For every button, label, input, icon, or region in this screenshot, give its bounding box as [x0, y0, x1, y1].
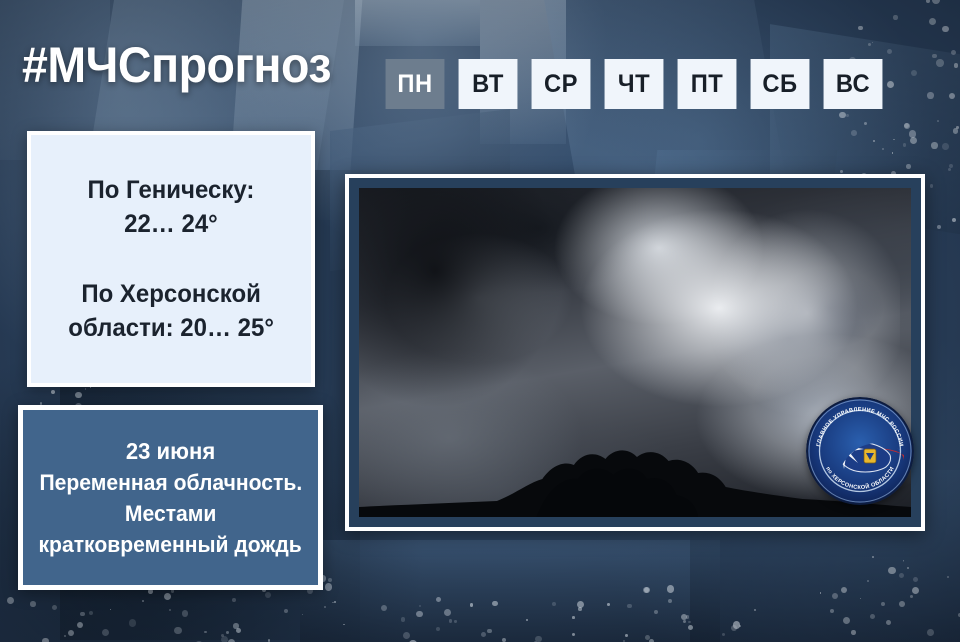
kherson-label-line2: области: 20… 25°	[68, 311, 274, 345]
day-tab-пт[interactable]: ПТ	[678, 59, 737, 109]
kherson-label-line1: По Херсонской	[68, 277, 274, 311]
forecast-line-2: Местами	[125, 498, 217, 529]
page-title: #МЧСпрогноз	[22, 36, 331, 94]
cloud-dark-region	[359, 188, 613, 425]
day-tab-ср[interactable]: СР	[532, 59, 591, 109]
day-tab-чт[interactable]: ЧТ	[605, 59, 664, 109]
day-tabs[interactable]: ПНВТСРЧТПТСБВС	[384, 59, 884, 109]
day-tab-вт[interactable]: ВТ	[459, 59, 518, 109]
temperature-panel: По Геническу: 22… 24° По Херсонской обла…	[27, 131, 315, 387]
forecast-line-3: кратковременный дождь	[39, 529, 302, 560]
forecast-line-1: Переменная облачность.	[39, 467, 302, 498]
temperature-genichesk: По Геническу: 22… 24°	[88, 173, 255, 241]
weather-forecast-graphic: #МЧСпрогноз ПНВТСРЧТПТСБВС По Геническу:…	[0, 0, 960, 642]
genichesk-value: 22… 24°	[88, 207, 255, 241]
forecast-date: 23 июня	[126, 436, 215, 467]
day-tab-пн[interactable]: ПН	[386, 59, 445, 109]
mchs-kherson-emblem: ГЛАВНОЕ УПРАВЛЕНИЕ МЧС РОССИИ по ХЕРСОНС…	[806, 397, 914, 505]
day-tab-сб[interactable]: СБ	[751, 59, 810, 109]
temperature-kherson-region: По Херсонской области: 20… 25°	[68, 277, 274, 345]
forecast-description-panel: 23 июня Переменная облачность. Местами к…	[18, 405, 323, 590]
day-tab-вс[interactable]: ВС	[824, 59, 883, 109]
genichesk-label: По Геническу:	[88, 173, 255, 207]
